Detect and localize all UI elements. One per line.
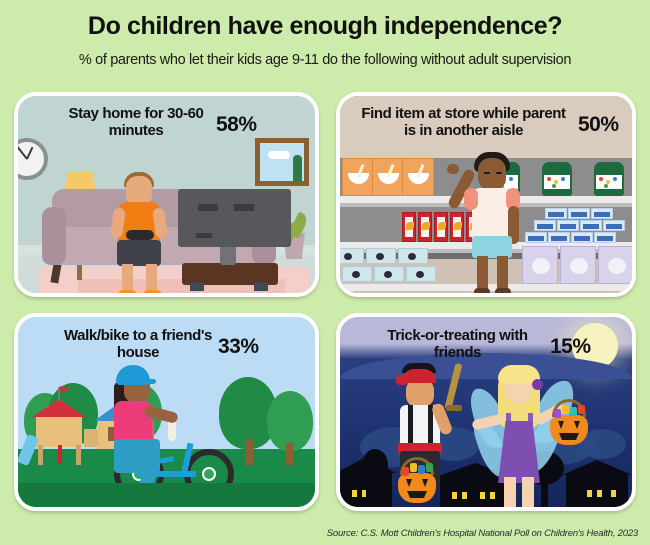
candy [426,463,433,472]
product-blue-box [580,220,602,231]
product-teal-box [366,248,396,264]
candy [418,465,425,474]
product-teal-box [374,266,404,282]
tv-detail [196,233,212,238]
panel-caption: Trick-or-treating with friends [370,328,545,362]
candy [554,409,561,418]
page-title: Do children have enough independence? [0,12,650,41]
product-snack-box [402,212,416,242]
tree-trunk [286,443,293,465]
child-shoe-left [474,288,490,296]
product-cereal-box [372,158,404,196]
product-blue-box [603,220,625,231]
product-blue-box [525,232,547,243]
candy [570,407,577,416]
jack-o-lantern-bucket [398,473,436,503]
television [178,189,291,247]
playground-bridge [84,429,98,447]
tv-detail [234,204,254,211]
product-purple-box [598,246,634,284]
child-shorts [472,236,512,258]
product-teal-box [406,266,436,282]
child-sleeve-left [464,188,478,210]
product-blue-box [594,232,616,243]
tree-trunk [245,439,253,465]
product-candy-bag [542,162,572,196]
grass-foreground [18,483,315,507]
flag-pole [58,387,60,401]
candy [562,405,569,414]
product-blue-box [571,232,593,243]
child-eye [484,172,490,174]
bike-hub-front [202,467,216,481]
bike-helmet-brim [140,379,156,384]
house-roof [562,460,632,475]
boy-shoe-left [118,290,138,297]
child-eye [496,172,502,174]
couch-arm-left [42,207,66,265]
product-candy-bag [594,162,624,196]
framed-picture [255,138,309,186]
lit-window [587,490,592,497]
playground-ladder [58,445,62,463]
product-blue-box [548,232,570,243]
sword-hilt [446,405,462,411]
product-blue-box [534,220,556,231]
product-cereal-box [402,158,434,196]
panel-walk-bike-to-friends-house[interactable]: Walk/bike to a friend's house 33% [14,313,319,511]
child-leg-right [497,256,508,292]
fairy-flower [532,379,543,390]
product-blue-box [568,208,590,219]
pirate-head [406,379,434,407]
lit-window [611,490,616,497]
playground-post [76,445,81,465]
product-blue-box [557,220,579,231]
tree [267,391,313,451]
child-shoe-right [495,288,511,296]
product-teal-box [342,266,372,282]
tree-trunk-silhouette [541,481,548,507]
product-snack-box [450,212,464,242]
panel-percent: 50% [578,113,619,137]
candy [578,405,585,414]
candy [410,463,417,472]
jack-o-lantern-bucket [550,415,588,445]
panel-percent: 15% [550,335,591,359]
lit-window [597,490,602,497]
fairy-leg-left [504,477,516,511]
boy-shoe-right [143,290,163,297]
pirate-bandana-knot [396,375,408,385]
lit-window [452,492,457,499]
tree-trunk-silhouette [366,477,372,507]
pirate-suspender-left [408,405,413,447]
page-subtitle: % of parents who let their kids age 9-11… [0,52,650,68]
infographic-root: Do children have enough independence? % … [0,0,650,545]
wall-clock-icon [14,138,48,180]
lit-window [462,492,467,499]
lit-window [480,492,485,499]
tv-stand-foot [190,283,204,291]
product-blue-box [591,208,613,219]
product-cereal-box [342,158,374,196]
panel-find-item-at-store[interactable]: Find item at store while parent is in an… [336,92,636,297]
candy [402,467,409,476]
lit-window [352,490,357,497]
lit-window [490,492,495,499]
panel-percent: 58% [216,113,257,137]
product-snack-box [418,212,432,242]
tv-stand [182,263,278,285]
product-purple-box [522,246,558,284]
child-hand [447,164,459,174]
child-leg-left [477,256,488,292]
product-teal-box [336,248,364,264]
product-teal-box [398,248,428,264]
panel-percent: 33% [218,335,259,359]
source-attribution: Source: C.S. Mott Children's Hospital Na… [327,528,638,539]
game-controller-icon [126,230,154,240]
product-blue-box [545,208,567,219]
fairy-leg-right [522,477,534,511]
boy-shorts [117,240,161,266]
product-snack-box [434,212,448,242]
panel-stay-home[interactable]: Stay home for 30-60 minutes 58% [14,92,319,297]
panel-trick-or-treating[interactable]: Trick-or-treating with friends 15% [336,313,636,511]
playground-post [38,445,43,465]
panel-caption: Find item at store while parent is in an… [356,106,571,140]
product-purple-box [560,246,596,284]
child-head [478,158,506,190]
playground-deck [36,415,82,447]
tv-stand-foot [254,283,268,291]
panel-caption: Walk/bike to a friend's house [58,328,218,362]
panel-caption: Stay home for 30-60 minutes [56,106,216,140]
tv-detail [198,204,218,211]
